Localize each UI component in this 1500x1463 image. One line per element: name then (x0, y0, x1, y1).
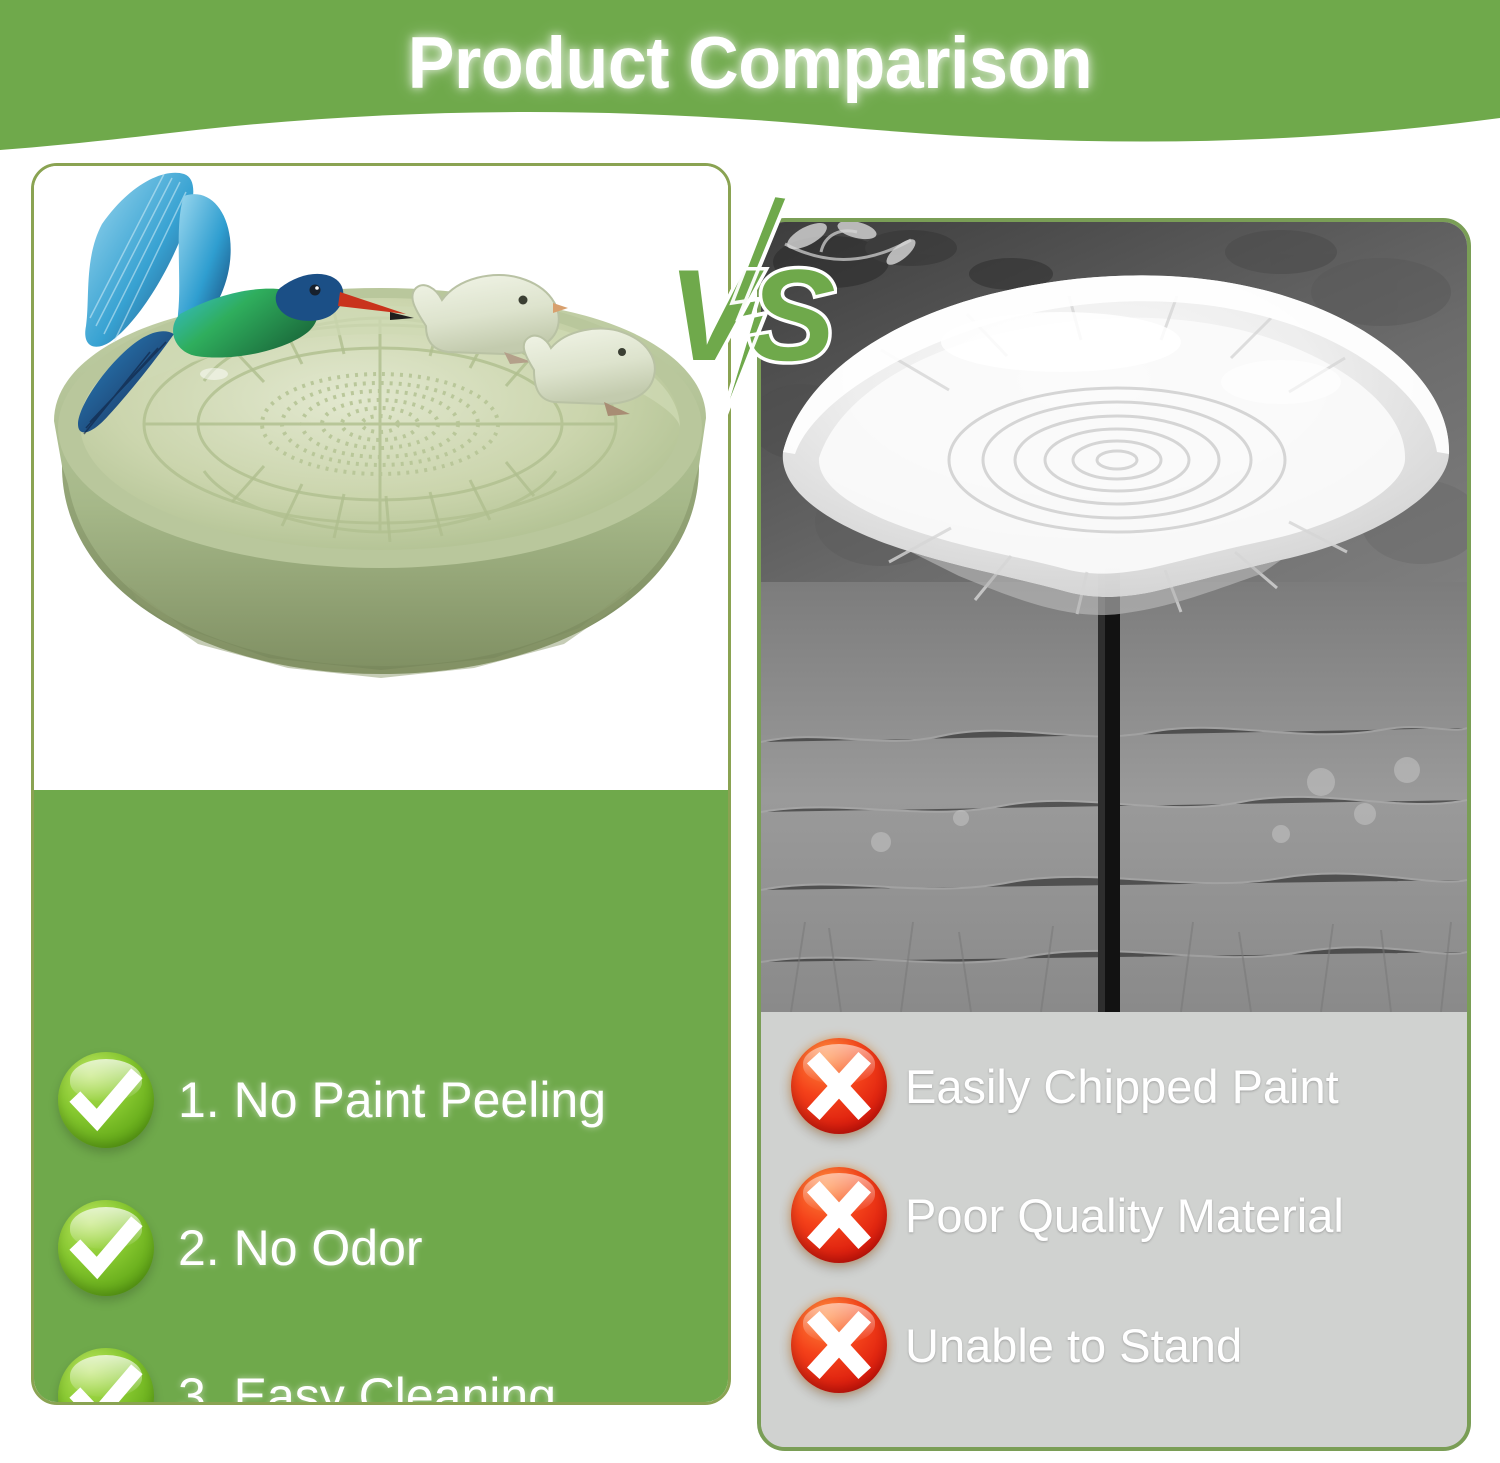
versus-lightning-icon: VS (662, 195, 837, 445)
pros-item-label: 1. No Paint Peeling (178, 1071, 606, 1129)
pros-list-item: 2. No Odor (58, 1200, 423, 1296)
right-competitor-photo (761, 222, 1467, 1012)
right-competitor-panel: Easily Chipped Paint Poor Quality Materi… (757, 218, 1471, 1451)
cons-item-label: Poor Quality Material (905, 1188, 1344, 1243)
glass-birdbath-photo-illustration (761, 222, 1467, 1012)
cons-item-label: Easily Chipped Paint (905, 1059, 1339, 1114)
cons-list: Easily Chipped Paint Poor Quality Materi… (761, 1012, 1467, 1447)
cross-icon-glyph (791, 1167, 887, 1263)
cons-list-item: Poor Quality Material (791, 1167, 1344, 1263)
pros-list-item: 3. Easy Cleaning (58, 1348, 556, 1405)
check-icon (58, 1200, 154, 1296)
cons-item-label: Unable to Stand (905, 1318, 1242, 1373)
pros-list-item: 1. No Paint Peeling (58, 1052, 606, 1148)
versus-badge: VS (662, 195, 837, 445)
cross-icon-glyph (791, 1297, 887, 1393)
pros-list: 1. No Paint Peeling 2. No Odor 3. Easy C… (34, 790, 728, 1402)
product-comparison-infographic: Product Comparison (0, 0, 1500, 1463)
left-product-photo (34, 166, 728, 790)
check-icon-glyph (58, 1052, 154, 1148)
check-icon (58, 1348, 154, 1405)
cross-icon (791, 1167, 887, 1263)
ceramic-birdbath-illustration (34, 166, 728, 790)
pros-item-label: 3. Easy Cleaning (178, 1367, 556, 1405)
left-product-panel: 1. No Paint Peeling 2. No Odor 3. Easy C… (31, 163, 731, 1405)
cross-icon (791, 1038, 887, 1134)
check-icon-glyph (58, 1200, 154, 1296)
header-banner: Product Comparison (0, 0, 1500, 160)
cons-list-item: Easily Chipped Paint (791, 1038, 1339, 1134)
cross-icon-glyph (791, 1038, 887, 1134)
pros-item-label: 2. No Odor (178, 1219, 423, 1277)
check-icon (58, 1052, 154, 1148)
check-icon-glyph (58, 1348, 154, 1405)
cons-list-item: Unable to Stand (791, 1297, 1242, 1393)
cross-icon (791, 1297, 887, 1393)
page-title: Product Comparison (30, 22, 1470, 105)
